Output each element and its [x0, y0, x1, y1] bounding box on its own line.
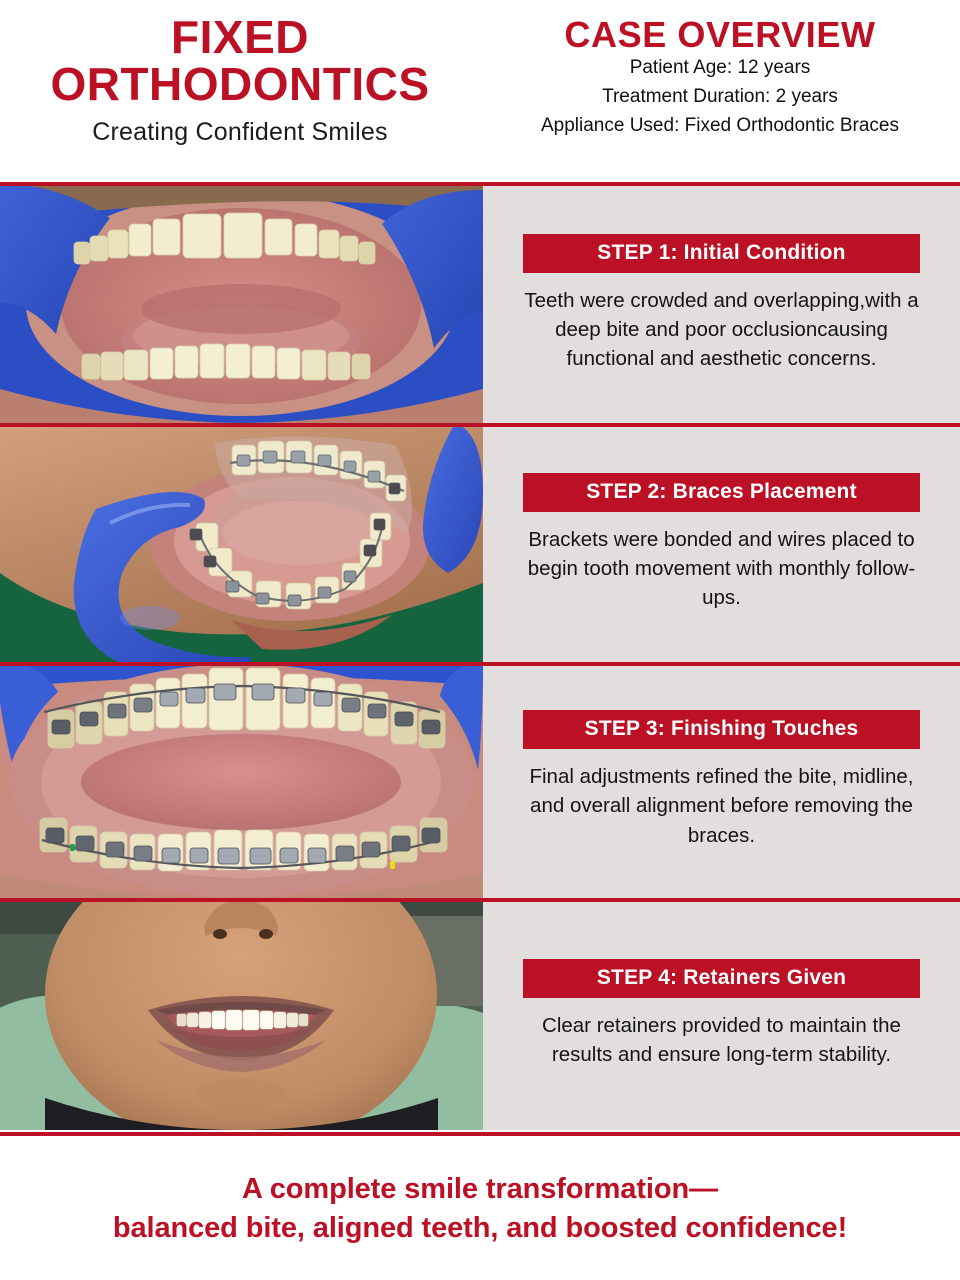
steps-container: STEP 1: Initial Condition Teeth were cro…: [0, 184, 960, 1134]
step-4-body: Clear retainers provided to maintain the…: [514, 1011, 929, 1069]
footer-line-2: balanced bite, aligned teeth, and booste…: [113, 1209, 847, 1248]
brand-block: FIXED ORTHODONTICS Creating Confident Sm…: [0, 0, 480, 184]
footer-line-1: A complete smile transformation—: [242, 1170, 718, 1209]
infographic-page: FIXED ORTHODONTICS Creating Confident Sm…: [0, 0, 960, 1280]
step-3-photo: [0, 662, 483, 898]
step-4-text-panel: STEP 4: Retainers Given Clear retainers …: [483, 898, 960, 1130]
step-row-3: STEP 3: Finishing Touches Final adjustme…: [0, 662, 960, 898]
step-2-body: Brackets were bonded and wires placed to…: [514, 525, 929, 612]
step-1-text-panel: STEP 1: Initial Condition Teeth were cro…: [483, 184, 960, 423]
divider-header: [0, 182, 960, 186]
step-4-photo: [0, 898, 483, 1130]
step-row-4: STEP 4: Retainers Given Clear retainers …: [0, 898, 960, 1130]
brand-title-line2: ORTHODONTICS: [50, 61, 429, 108]
step-row-2: STEP 2: Braces Placement Brackets were b…: [0, 423, 960, 662]
footer: A complete smile transformation— balance…: [0, 1138, 960, 1280]
divider-step-3: [0, 898, 960, 902]
step-2-banner: STEP 2: Braces Placement: [523, 473, 920, 512]
step-3-body: Final adjustments refined the bite, midl…: [514, 762, 929, 849]
step-3-banner: STEP 3: Finishing Touches: [523, 710, 920, 749]
appliance-used: Appliance Used: Fixed Orthodontic Braces: [541, 112, 899, 141]
step-1-banner: STEP 1: Initial Condition: [523, 234, 920, 273]
brand-tagline: Creating Confident Smiles: [92, 118, 387, 147]
case-overview-title: CASE OVERVIEW: [564, 16, 875, 54]
header: FIXED ORTHODONTICS Creating Confident Sm…: [0, 0, 960, 184]
step-3-text-panel: STEP 3: Finishing Touches Final adjustme…: [483, 662, 960, 898]
step-4-banner: STEP 4: Retainers Given: [523, 959, 920, 998]
divider-step-1: [0, 423, 960, 427]
treatment-duration: Treatment Duration: 2 years: [602, 83, 838, 112]
step-1-body: Teeth were crowded and overlapping,with …: [514, 286, 929, 373]
step-2-photo: [0, 423, 483, 662]
step-2-text-panel: STEP 2: Braces Placement Brackets were b…: [483, 423, 960, 662]
step-row-1: STEP 1: Initial Condition Teeth were cro…: [0, 184, 960, 423]
brand-title-line1: FIXED: [171, 14, 309, 61]
case-overview-block: CASE OVERVIEW Patient Age: 12 years Trea…: [480, 0, 960, 184]
divider-footer: [0, 1132, 960, 1136]
patient-age: Patient Age: 12 years: [630, 54, 811, 83]
step-1-photo: [0, 184, 483, 423]
divider-step-2: [0, 662, 960, 666]
